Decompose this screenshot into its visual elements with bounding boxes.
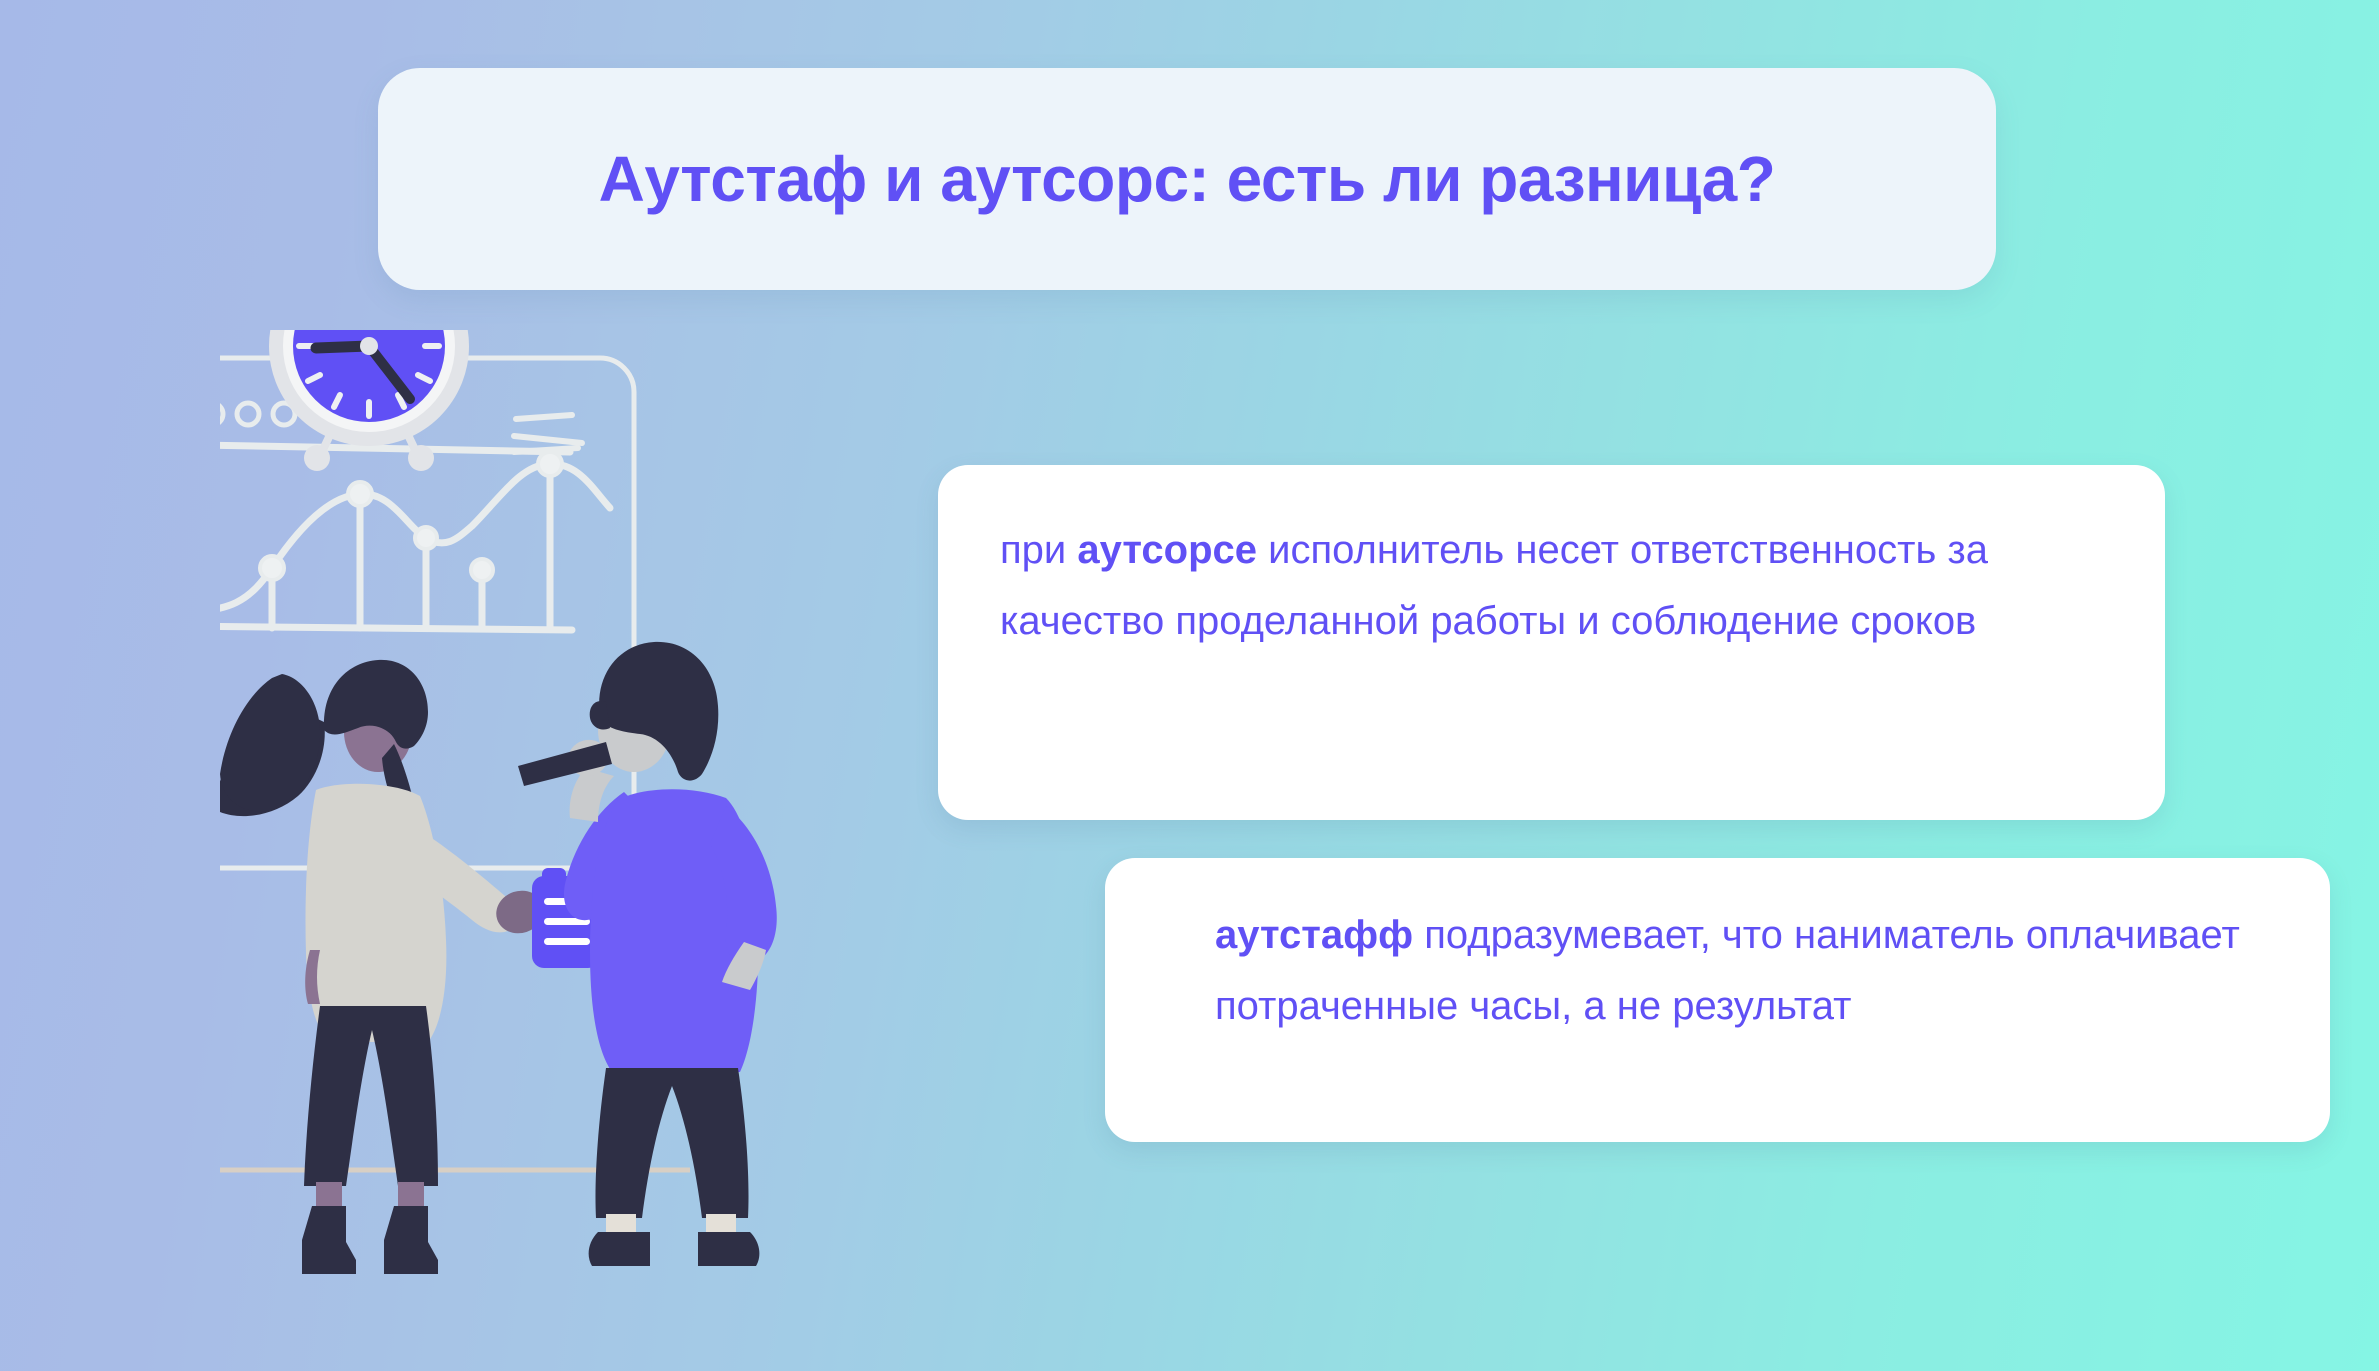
info-card-outsource: при аутсорсе исполнитель несет ответстве… xyxy=(938,465,2165,820)
info-card-outstaff-text: аутстафф подразумевает, что наниматель о… xyxy=(1215,900,2274,1042)
info-card-outstaff: аутстафф подразумевает, что наниматель о… xyxy=(1105,858,2330,1142)
banner-root: Аутстаф и аутсорс: есть ли разница? при … xyxy=(0,0,2379,1371)
outsource-keyword: аутсорсе xyxy=(1077,528,1257,572)
chart-nodes xyxy=(260,452,562,581)
woman-with-clipboard xyxy=(220,660,600,1274)
window-dot-1 xyxy=(220,403,223,425)
outstaff-keyword: аутстафф xyxy=(1215,913,1413,957)
title-card: Аутстаф и аутсорс: есть ли разница? xyxy=(378,68,1996,290)
window-dot-2 xyxy=(237,403,259,425)
page-title: Аутстаф и аутсорс: есть ли разница? xyxy=(599,142,1776,216)
illustration xyxy=(220,330,940,1340)
line-chart-sketch xyxy=(220,464,610,630)
info-card-outsource-text: при аутсорсе исполнитель несет ответстве… xyxy=(1000,515,2109,657)
outsource-lead: при xyxy=(1000,528,1077,572)
